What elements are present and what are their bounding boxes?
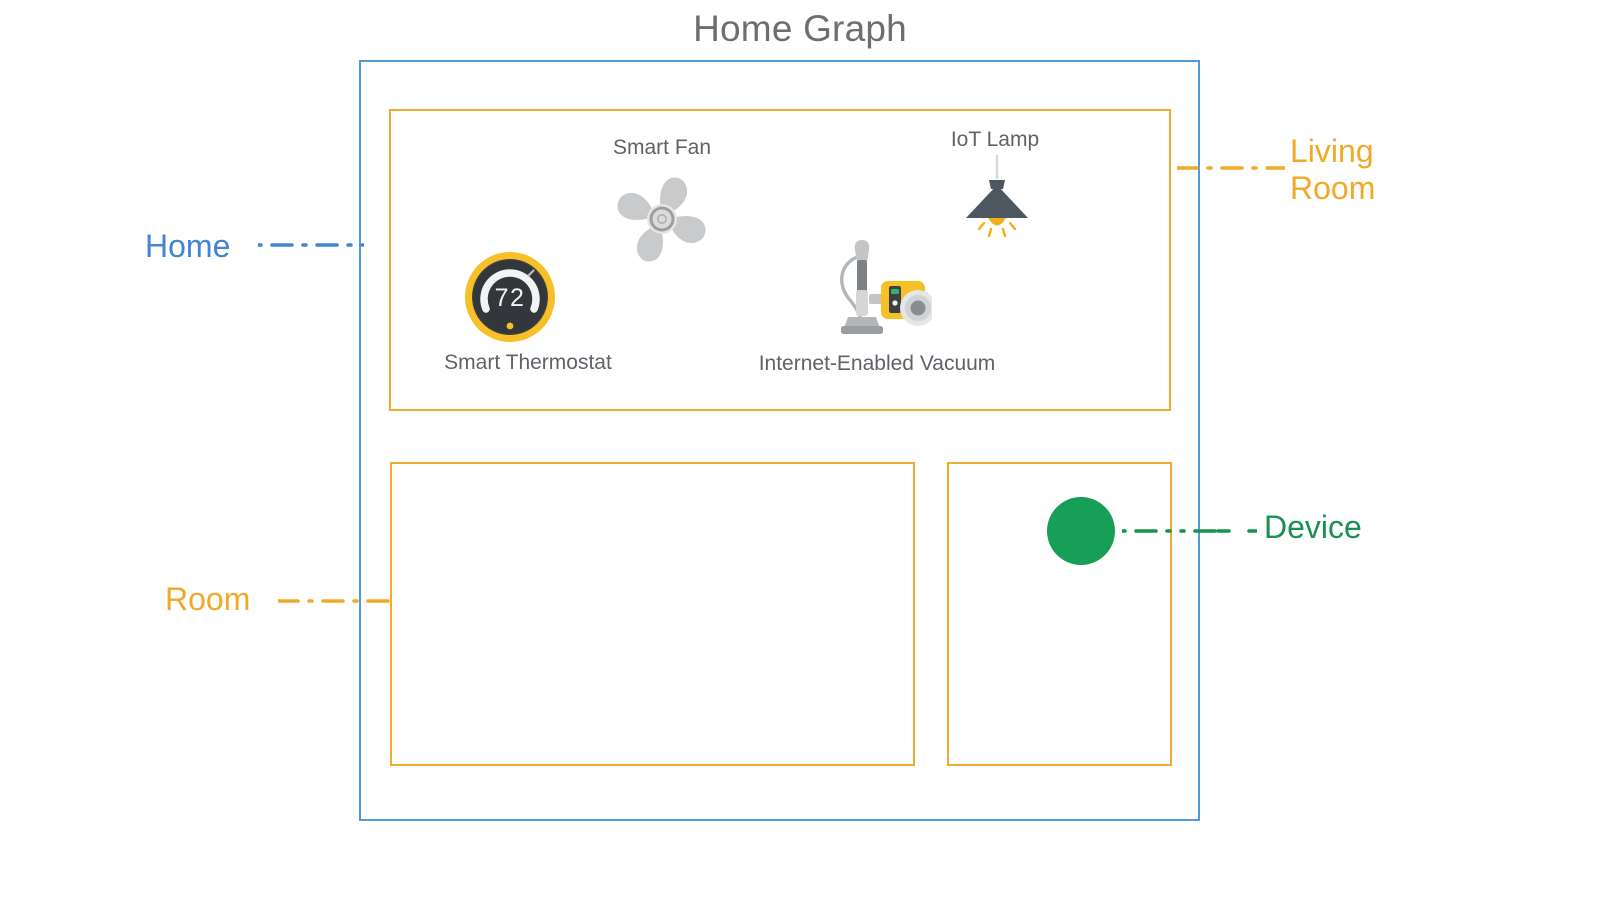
device-label-iot-lamp: IoT Lamp <box>895 128 1095 152</box>
device-dot-icon <box>1047 497 1115 565</box>
device-label-smart-thermostat: Smart Thermostat <box>428 351 628 375</box>
legend-label-living-room-line1: Living <box>1290 133 1375 170</box>
leader-line-device <box>1122 528 1257 534</box>
leader-line-home <box>258 242 364 248</box>
vacuum-icon <box>826 232 932 336</box>
leader-line-room <box>278 598 393 604</box>
page-title: Home Graph <box>0 8 1600 50</box>
thermostat-icon: 72 <box>464 251 556 343</box>
svg-text:72: 72 <box>495 284 526 312</box>
legend-label-home: Home <box>145 228 230 265</box>
legend-label-living-room: Living Room <box>1290 133 1375 207</box>
home-graph-diagram: Home Graph Home Room Living Room Device … <box>0 0 1600 900</box>
legend-label-room: Room <box>165 581 250 618</box>
device-label-internet-enabled-vacuum: Internet-Enabled Vacuum <box>745 352 1009 376</box>
legend-label-living-room-line2: Room <box>1290 170 1375 207</box>
legend-label-device: Device <box>1264 509 1362 546</box>
leader-line-living-room <box>1177 165 1285 171</box>
device-label-smart-fan: Smart Fan <box>562 136 762 160</box>
lamp-icon <box>958 155 1036 240</box>
room-box-empty-left <box>390 462 915 766</box>
fan-icon <box>608 170 716 266</box>
